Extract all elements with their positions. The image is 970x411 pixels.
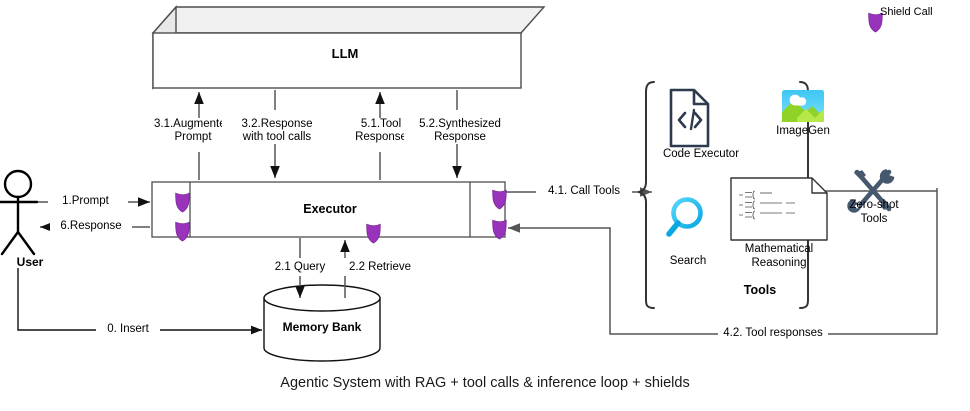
legend-shield-label: Shield Call	[880, 6, 933, 18]
edge-0-insert	[18, 268, 262, 330]
diagram-canvas: LLM Executor Memory Bank User Tools 3.1.…	[0, 0, 970, 411]
diagram-caption: Agentic System with RAG + tool calls & i…	[0, 375, 970, 391]
user-actor	[0, 171, 37, 254]
edge-label-6-response: 6.Response	[50, 220, 132, 233]
memory-bank-label: Memory Bank	[258, 320, 386, 334]
tool-label-zero-shot-tools: Zero-shot Tools	[837, 199, 911, 226]
edge-label-5-2: 5.2.Synthesized Response	[404, 118, 516, 144]
magnifier-icon	[669, 200, 701, 235]
math-document-icon	[731, 178, 827, 240]
edge-label-2-2-retrieve: 2.2 Retrieve	[334, 261, 426, 274]
edge-label-4-1: 4.1. Call Tools	[536, 185, 632, 198]
image-picture-icon	[782, 90, 824, 122]
edge-label-4-2: 4.2. Tool responses	[718, 327, 828, 340]
user-label: User	[0, 255, 60, 269]
code-document-icon	[671, 90, 708, 146]
executor-label: Executor	[190, 202, 470, 216]
tools-left-brace	[638, 82, 654, 308]
edge-label-0-insert: 0. Insert	[96, 323, 160, 336]
tool-label-search: Search	[655, 255, 721, 269]
shield-icon	[367, 224, 381, 243]
tool-label-imagegen: ImageGen	[762, 125, 844, 139]
llm-label: LLM	[150, 46, 540, 61]
edge-label-1-prompt: 1.Prompt	[48, 195, 123, 208]
tool-label-code-executor: Code Executor	[650, 148, 752, 162]
tool-label-mathematical-reasoning: Mathematical Reasoning	[723, 243, 835, 270]
edge-label-2-1-query: 2.1 Query	[258, 261, 342, 274]
shield-icon	[176, 222, 190, 241]
tools-group-label: Tools	[700, 283, 820, 297]
edge-label-3-2: 3.2.Response with tool calls	[222, 118, 332, 144]
diagram-svg	[0, 0, 970, 411]
